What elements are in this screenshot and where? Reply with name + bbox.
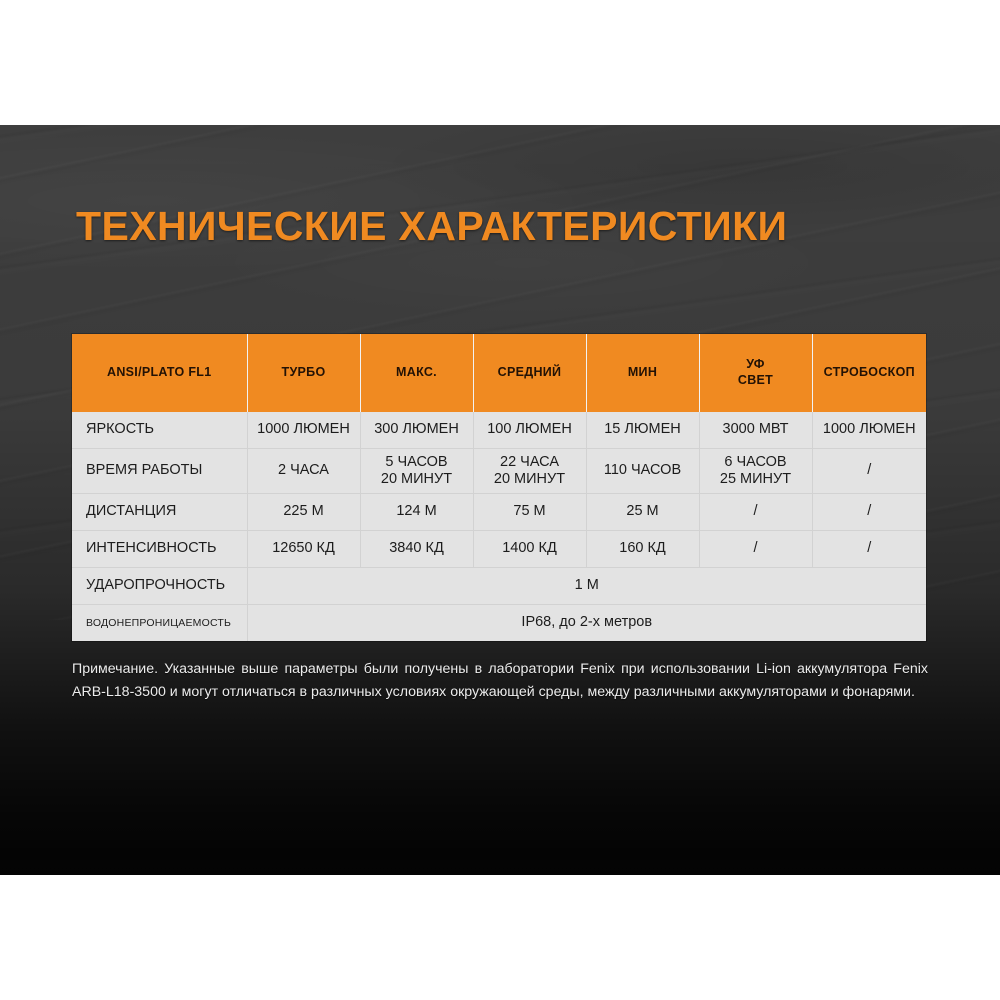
cell-line-1: 22 ЧАСА (477, 454, 583, 471)
cell-line-1: 6 ЧАСОВ (703, 454, 809, 471)
cell-brightness-medium: 100 ЛЮМЕН (473, 412, 586, 449)
cell-runtime-medium: 22 ЧАСА 20 МИНУТ (473, 449, 586, 494)
cell-line-1: 110 ЧАСОВ (590, 462, 696, 479)
table-body: ЯРКОСТЬ 1000 ЛЮМЕН 300 ЛЮМЕН 100 ЛЮМЕН 1… (72, 412, 926, 641)
column-header-min: МИН (586, 334, 699, 412)
table-row: ВОДОНЕПРОНИЦАЕМОСТЬ IP68, до 2-х метров (72, 605, 926, 642)
cell-distance-min: 25 М (586, 494, 699, 531)
cell-distance-turbo: 225 М (247, 494, 360, 531)
cell-intensity-uv: / (699, 531, 812, 568)
cell-runtime-min: 110 ЧАСОВ (586, 449, 699, 494)
cell-intensity-medium: 1400 КД (473, 531, 586, 568)
cell-intensity-max: 3840 КД (360, 531, 473, 568)
column-header-turbo: ТУРБО (247, 334, 360, 412)
column-header-max: МАКС. (360, 334, 473, 412)
cell-brightness-uv: 3000 МВТ (699, 412, 812, 449)
cell-intensity-strobe: / (812, 531, 926, 568)
table-row: ИНТЕНСИВНОСТЬ 12650 КД 3840 КД 1400 КД 1… (72, 531, 926, 568)
cell-distance-strobe: / (812, 494, 926, 531)
cell-line-2: 25 МИНУТ (703, 471, 809, 488)
cell-runtime-turbo: 2 ЧАСА (247, 449, 360, 494)
table-header: ANSI/PLATO FL1 ТУРБО МАКС. СРЕДНИЙ МИН У… (72, 334, 926, 412)
cell-line-2: 20 МИНУТ (477, 471, 583, 488)
cell-intensity-turbo: 12650 КД (247, 531, 360, 568)
cell-impact-resistance-value: 1 М (247, 568, 926, 605)
cell-brightness-max: 300 ЛЮМЕН (360, 412, 473, 449)
specifications-table: ANSI/PLATO FL1 ТУРБО МАКС. СРЕДНИЙ МИН У… (72, 334, 926, 641)
row-label-runtime: ВРЕМЯ РАБОТЫ (72, 449, 247, 494)
table-row: ЯРКОСТЬ 1000 ЛЮМЕН 300 ЛЮМЕН 100 ЛЮМЕН 1… (72, 412, 926, 449)
footnote-text: Примечание. Указанные выше параметры был… (72, 658, 928, 704)
cell-line-2: 20 МИНУТ (364, 471, 470, 488)
cell-runtime-uv: 6 ЧАСОВ 25 МИНУТ (699, 449, 812, 494)
cell-distance-medium: 75 М (473, 494, 586, 531)
table-row: УДАРОПРОЧНОСТЬ 1 М (72, 568, 926, 605)
row-label-distance: ДИСТАНЦИЯ (72, 494, 247, 531)
row-label-brightness: ЯРКОСТЬ (72, 412, 247, 449)
row-label-waterproof: ВОДОНЕПРОНИЦАЕМОСТЬ (72, 605, 247, 642)
table-header-row: ANSI/PLATO FL1 ТУРБО МАКС. СРЕДНИЙ МИН У… (72, 334, 926, 412)
uv-header-line-2: СВЕТ (702, 373, 810, 389)
column-header-uv-light: УФ СВЕТ (699, 334, 812, 412)
cell-runtime-strobe: / (812, 449, 926, 494)
table-row: ДИСТАНЦИЯ 225 М 124 М 75 М 25 М / / (72, 494, 926, 531)
dark-slate-panel: ТЕХНИЧЕСКИЕ ХАРАКТЕРИСТИКИ ANSI/PLATO FL… (0, 125, 1000, 875)
cell-line-1: 5 ЧАСОВ (364, 454, 470, 471)
page-title: ТЕХНИЧЕСКИЕ ХАРАКТЕРИСТИКИ (76, 203, 787, 250)
column-header-strobe: СТРОБОСКОП (812, 334, 926, 412)
cell-waterproof-value: IP68, до 2-х метров (247, 605, 926, 642)
cell-distance-uv: / (699, 494, 812, 531)
spec-table-container: ANSI/PLATO FL1 ТУРБО МАКС. СРЕДНИЙ МИН У… (72, 334, 926, 641)
cell-line-1: 2 ЧАСА (251, 462, 357, 479)
column-header-medium: СРЕДНИЙ (473, 334, 586, 412)
page-root: ТЕХНИЧЕСКИЕ ХАРАКТЕРИСТИКИ ANSI/PLATO FL… (0, 0, 1000, 1000)
cell-brightness-strobe: 1000 ЛЮМЕН (812, 412, 926, 449)
row-label-impact-resistance: УДАРОПРОЧНОСТЬ (72, 568, 247, 605)
cell-brightness-turbo: 1000 ЛЮМЕН (247, 412, 360, 449)
row-label-intensity: ИНТЕНСИВНОСТЬ (72, 531, 247, 568)
cell-intensity-min: 160 КД (586, 531, 699, 568)
uv-header-line-1: УФ (702, 357, 810, 373)
column-header-standard: ANSI/PLATO FL1 (72, 334, 247, 412)
table-row: ВРЕМЯ РАБОТЫ 2 ЧАСА 5 ЧАСОВ 20 МИНУТ 22 … (72, 449, 926, 494)
cell-distance-max: 124 М (360, 494, 473, 531)
cell-brightness-min: 15 ЛЮМЕН (586, 412, 699, 449)
cell-runtime-max: 5 ЧАСОВ 20 МИНУТ (360, 449, 473, 494)
